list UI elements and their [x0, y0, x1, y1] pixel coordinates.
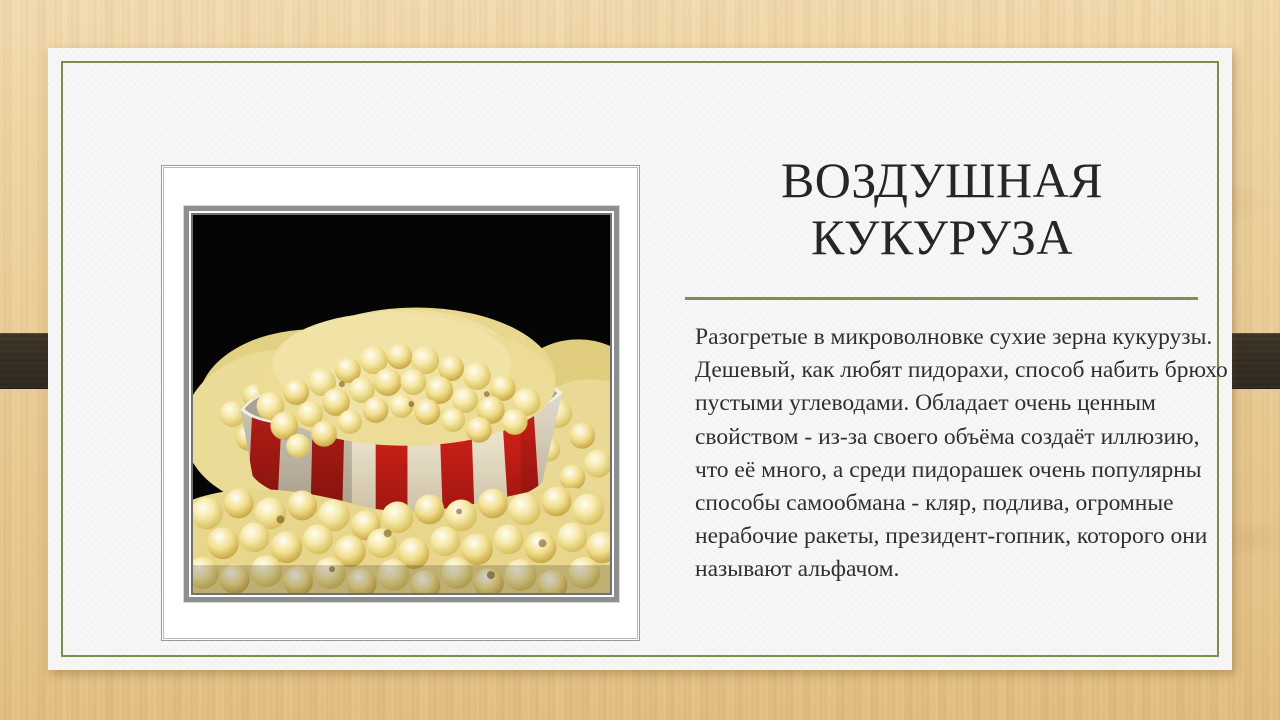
- photo-inner-frame: [184, 206, 619, 602]
- photo-frame: [161, 165, 640, 641]
- popcorn-image: [193, 215, 610, 593]
- slide-panel: ВОЗДУШНАЯ КУКУРУЗА Разогретые в микровол…: [48, 48, 1232, 670]
- title-divider-rule: [685, 297, 1198, 300]
- page-title: ВОЗДУШНАЯ КУКУРУЗА: [668, 152, 1216, 265]
- body-paragraph: Разогретые в микроволновке сухие зерна к…: [695, 321, 1235, 587]
- presentation-slide: ВОЗДУШНАЯ КУКУРУЗА Разогретые в микровол…: [0, 0, 1280, 720]
